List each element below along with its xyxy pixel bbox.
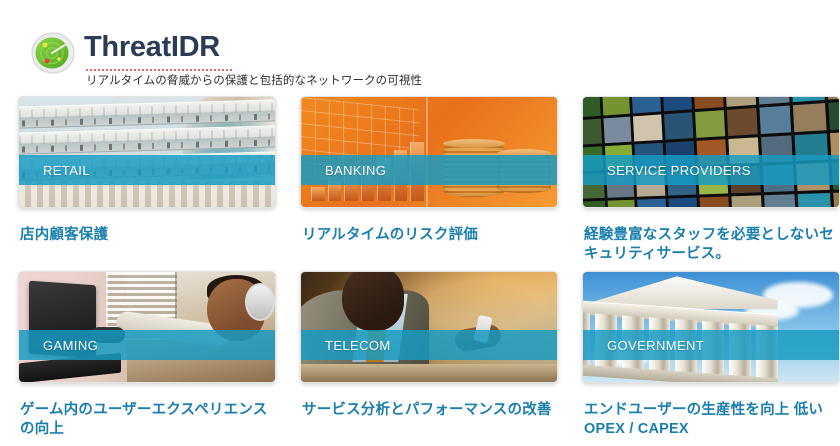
card-band: BANKING bbox=[301, 155, 557, 185]
card-band-label: GOVERNMENT bbox=[607, 338, 704, 353]
card-caption: リアルタイムのリスク評価 bbox=[302, 226, 560, 245]
coin-stacks-image bbox=[301, 97, 557, 207]
card-band-label: TELECOM bbox=[325, 338, 391, 353]
card-thumbnail[interactable]: GAMING bbox=[18, 271, 276, 383]
card-service-providers[interactable]: SERVICE PROVIDERS 経験豊富なスタッフを必要としないセキュリティ… bbox=[578, 96, 840, 263]
card-caption: 経験豊富なスタッフを必要としないセキュリティサービス。 bbox=[584, 226, 840, 263]
brand-title: ThreatIDR bbox=[84, 33, 220, 62]
card-band-label: SERVICE PROVIDERS bbox=[607, 163, 751, 178]
card-caption: サービス分析とパフォーマンスの改善 bbox=[302, 401, 560, 420]
card-gaming[interactable]: GAMING ゲーム内のユーザーエクスペリエンスの向上 bbox=[14, 271, 278, 438]
card-caption: 店内顧客保護 bbox=[20, 226, 278, 245]
card-banking[interactable]: BANKING リアルタイムのリスク評価 bbox=[296, 96, 560, 245]
video-wall-image bbox=[583, 97, 839, 207]
government-building-image bbox=[583, 272, 839, 382]
brand-tagline: リアルタイムの脅威からの保護と包括的なネットワークの可視性 bbox=[86, 72, 422, 88]
mall-interior-image bbox=[19, 97, 275, 207]
brand-underline bbox=[86, 69, 234, 71]
card-thumbnail[interactable]: BANKING bbox=[300, 96, 558, 208]
card-government[interactable]: GOVERNMENT エンドユーザーの生産性を向上 低いOPEX / CAPEX bbox=[578, 271, 840, 438]
card-thumbnail[interactable]: SERVICE PROVIDERS bbox=[582, 96, 840, 208]
site-header: ThreatIDR リアルタイムの脅威からの保護と包括的なネットワークの可視性 bbox=[28, 26, 588, 88]
card-band-label: BANKING bbox=[325, 163, 386, 178]
card-band-label: RETAIL bbox=[43, 163, 90, 178]
card-caption: ゲーム内のユーザーエクスペリエンスの向上 bbox=[20, 401, 278, 438]
card-retail[interactable]: RETAIL 店内顧客保護 bbox=[14, 96, 278, 245]
card-band-label: GAMING bbox=[43, 338, 98, 353]
businessman-image bbox=[301, 272, 557, 382]
card-thumbnail[interactable]: GOVERNMENT bbox=[582, 271, 840, 383]
card-row-2: GAMING ゲーム内のユーザーエクスペリエンスの向上 TE bbox=[14, 271, 840, 446]
radar-disc-icon bbox=[28, 28, 78, 78]
industry-card-grid: RETAIL 店内顧客保護 bbox=[14, 96, 840, 446]
card-band: SERVICE PROVIDERS bbox=[583, 155, 839, 185]
card-thumbnail[interactable]: RETAIL bbox=[18, 96, 276, 208]
card-telecom[interactable]: TELECOM サービス分析とパフォーマンスの改善 bbox=[296, 271, 560, 420]
card-band: TELECOM bbox=[301, 330, 557, 360]
card-caption: エンドユーザーの生産性を向上 低いOPEX / CAPEX bbox=[584, 401, 840, 438]
card-band: RETAIL bbox=[19, 155, 275, 185]
card-thumbnail[interactable]: TELECOM bbox=[300, 271, 558, 383]
card-row-1: RETAIL 店内顧客保護 bbox=[14, 96, 840, 271]
card-band: GAMING bbox=[19, 330, 275, 360]
gamer-image bbox=[19, 272, 275, 382]
card-band: GOVERNMENT bbox=[583, 330, 839, 360]
